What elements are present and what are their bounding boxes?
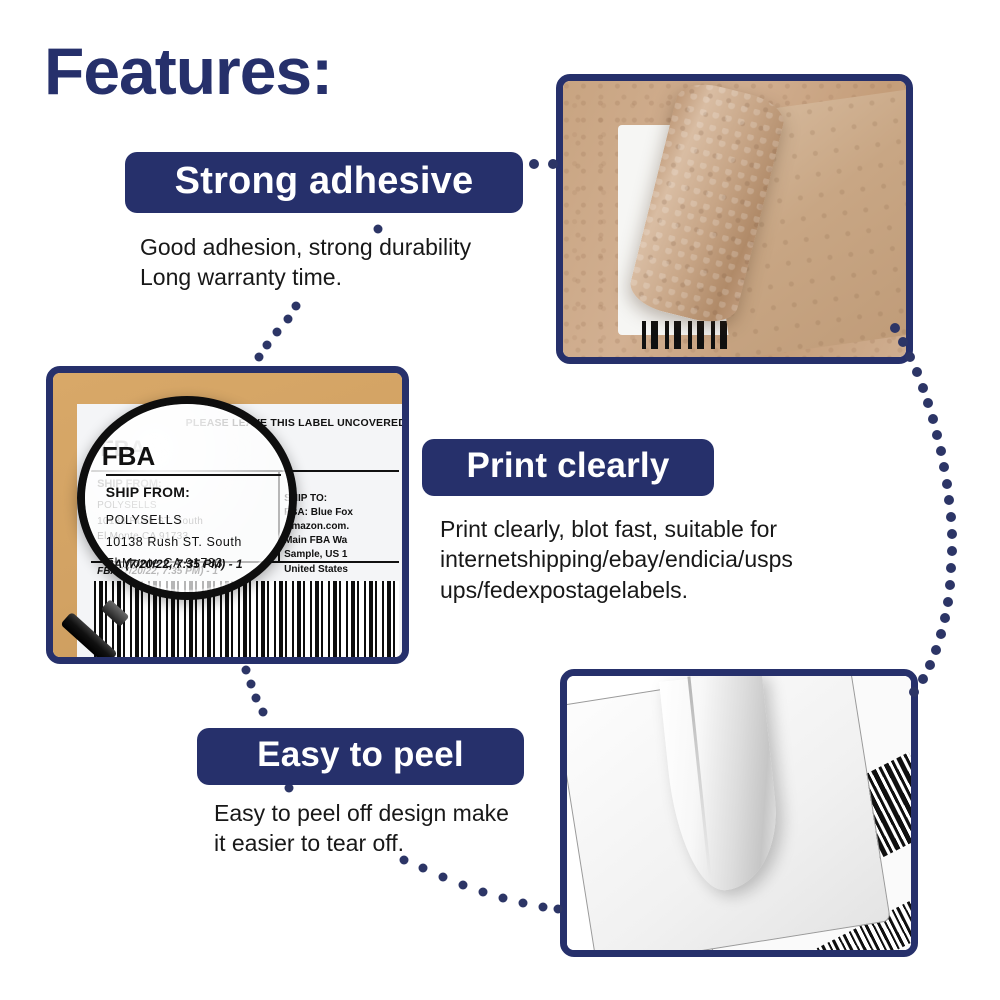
feature-badge-easy-to-peel[interactable]: Easy to peel bbox=[197, 728, 524, 785]
feature-text-easy-to-peel: Easy to peel off design make it easier t… bbox=[214, 798, 614, 859]
feature-badge-strong-adhesive[interactable]: Strong adhesive bbox=[125, 152, 523, 213]
connector-adhesive-to-kraft bbox=[529, 159, 558, 169]
magnified-divider bbox=[106, 474, 281, 476]
page-title: Features: bbox=[44, 38, 332, 104]
connector-peel-text-to-photo bbox=[400, 856, 563, 914]
feature-text-print-clearly: Print clearly, blot fast, suitable for i… bbox=[440, 514, 860, 605]
kraft-image bbox=[563, 81, 906, 357]
label-barcode bbox=[94, 581, 399, 657]
connector-kraft-to-peel bbox=[890, 323, 957, 697]
magnified-ship-from-heading: SHIP FROM: bbox=[106, 484, 281, 500]
photo-shipping-label: PLEASE LEAVE THIS LABEL UNCOVERED FBA SH… bbox=[46, 366, 409, 664]
feature-badge-print-clearly[interactable]: Print clearly bbox=[422, 439, 714, 496]
magnified-fba-heading: FBA bbox=[102, 441, 281, 472]
magnified-timestamp: FBA (7/20/22, 7:35 PM) - 1 bbox=[98, 557, 243, 571]
magnified-content: FBA SHIP FROM: POLYSELLS 10138 Rush ST. … bbox=[106, 441, 281, 575]
shipping-label-image: PLEASE LEAVE THIS LABEL UNCOVERED FBA SH… bbox=[53, 373, 402, 657]
feature-text-strong-adhesive: Good adhesion, strong durability Long wa… bbox=[140, 232, 560, 293]
photo-kraft-roll bbox=[556, 74, 913, 364]
infographic-page: Features: PLEASE LEAVE THIS LABEL UNCOVE… bbox=[0, 0, 1000, 1000]
peel-label-image: SHIP FROM: 9414 Gidley St Sample City, C… bbox=[567, 676, 911, 950]
magnifier-lens: FBA SHIP FROM: POLYSELLS 10138 Rush ST. … bbox=[77, 396, 297, 600]
peel-notice-text: PLEASE LEAVE bbox=[790, 669, 865, 675]
